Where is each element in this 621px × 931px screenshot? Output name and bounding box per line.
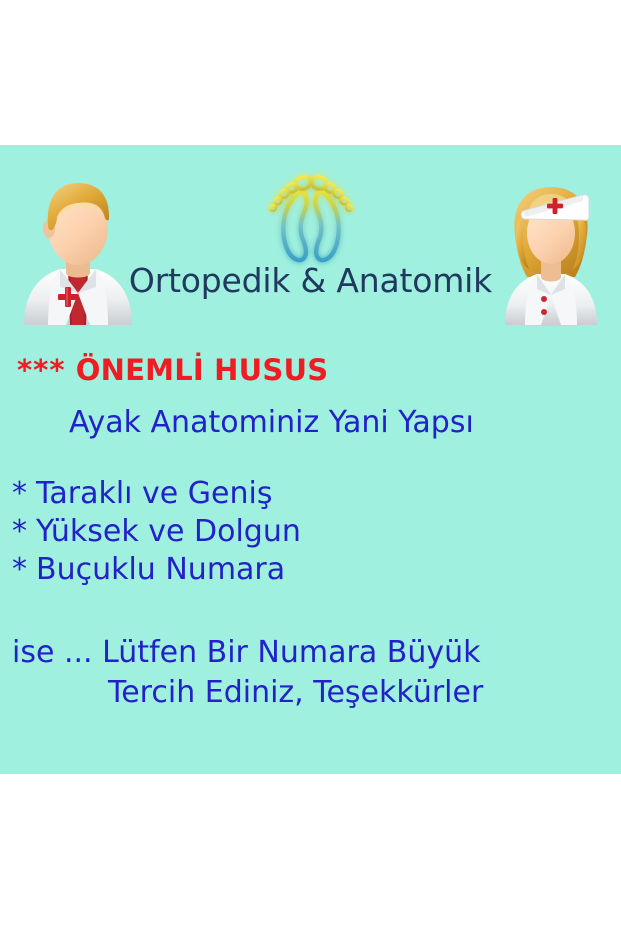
female-nurse-icon xyxy=(499,173,603,327)
foot-traits-list: *Taraklı ve Geniş *Yüksek ve Dolgun *Buç… xyxy=(0,475,621,589)
advice-line-secondary: Tercih Ediniz, Teşekkürler xyxy=(108,674,621,712)
list-item-label: Taraklı ve Geniş xyxy=(36,476,272,511)
heading-stars: *** xyxy=(17,353,66,387)
bullet-star-icon: * xyxy=(12,475,36,513)
list-item: *Yüksek ve Dolgun xyxy=(12,513,621,551)
bullet-star-icon: * xyxy=(12,551,36,589)
page-title: Ortopedik & Anatomik xyxy=(0,262,621,300)
heading-text: ÖNEMLİ HUSUS xyxy=(76,353,329,387)
list-item-label: Buçuklu Numara xyxy=(36,552,285,587)
list-item: *Taraklı ve Geniş xyxy=(12,475,621,513)
message-block: *** ÖNEMLİ HUSUS Ayak Anatominiz Yani Ya… xyxy=(0,352,621,712)
poster-canvas: Ortopedik & Anatomik *** ÖNEMLİ HUSUS Ay… xyxy=(0,0,621,931)
important-notice-heading: *** ÖNEMLİ HUSUS xyxy=(17,352,621,388)
list-item: *Buçuklu Numara xyxy=(12,551,621,589)
male-doctor-icon xyxy=(16,175,140,327)
bullet-star-icon: * xyxy=(12,513,36,551)
advice-line-primary: ise ... Lütfen Bir Numara Büyük xyxy=(12,634,621,672)
header-band: Ortopedik & Anatomik xyxy=(0,145,621,330)
subject-line: Ayak Anatominiz Yani Yapsı xyxy=(69,404,621,442)
list-item-label: Yüksek ve Dolgun xyxy=(36,514,301,549)
